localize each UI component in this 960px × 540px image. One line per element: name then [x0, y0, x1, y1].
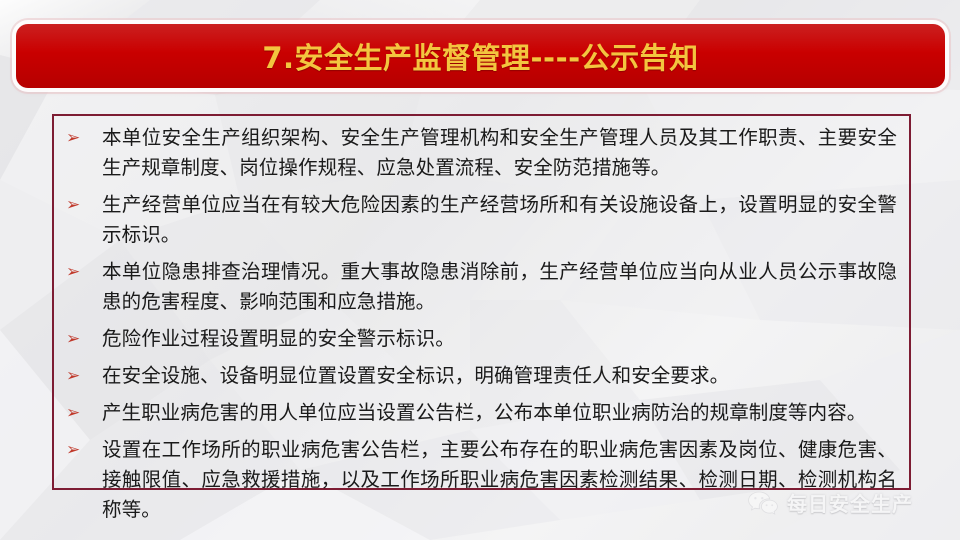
list-item: ➢ 本单位隐患排查治理情况。重大事故隐患消除前，生产经营单位应当向从业人员公示事…: [60, 257, 899, 317]
list-item-text: 生产经营单位应当在有较大危险因素的生产经营场所和有关设施设备上，设置明显的安全警…: [102, 190, 899, 250]
list-item-text: 产生职业病危害的用人单位应当设置公告栏，公布本单位职业病防治的规章制度等内容。: [102, 398, 899, 428]
bullet-list: ➢ 本单位安全生产组织架构、安全生产管理机构和安全生产管理人员及其工作职责、主要…: [60, 123, 899, 525]
arrow-bullet-icon: ➢: [60, 361, 102, 391]
slide-title-banner: 7.安全生产监督管理----公示告知: [16, 24, 945, 88]
list-item-text: 本单位隐患排查治理情况。重大事故隐患消除前，生产经营单位应当向从业人员公示事故隐…: [102, 257, 899, 317]
arrow-bullet-icon: ➢: [60, 257, 102, 287]
list-item: ➢ 危险作业过程设置明显的安全警示标识。: [60, 324, 899, 354]
list-item: ➢ 设置在工作场所的职业病危害公告栏，主要公布存在的职业病危害因素及岗位、健康危…: [60, 435, 899, 525]
content-box: ➢ 本单位安全生产组织架构、安全生产管理机构和安全生产管理人员及其工作职责、主要…: [52, 114, 911, 490]
arrow-bullet-icon: ➢: [60, 435, 102, 465]
arrow-bullet-icon: ➢: [60, 324, 102, 354]
page-title: 7.安全生产监督管理----公示告知: [262, 35, 698, 77]
list-item-text: 设置在工作场所的职业病危害公告栏，主要公布存在的职业病危害因素及岗位、健康危害、…: [102, 435, 899, 525]
arrow-bullet-icon: ➢: [60, 190, 102, 220]
list-item: ➢ 产生职业病危害的用人单位应当设置公告栏，公布本单位职业病防治的规章制度等内容…: [60, 398, 899, 428]
list-item-text: 在安全设施、设备明显位置设置安全标识，明确管理责任人和安全要求。: [102, 361, 899, 391]
arrow-bullet-icon: ➢: [60, 398, 102, 428]
list-item: ➢ 在安全设施、设备明显位置设置安全标识，明确管理责任人和安全要求。: [60, 361, 899, 391]
list-item-text: 本单位安全生产组织架构、安全生产管理机构和安全生产管理人员及其工作职责、主要安全…: [102, 123, 899, 183]
slide-canvas: 7.安全生产监督管理----公示告知 ➢ 本单位安全生产组织架构、安全生产管理机…: [0, 0, 960, 540]
arrow-bullet-icon: ➢: [60, 123, 102, 153]
list-item-text: 危险作业过程设置明显的安全警示标识。: [102, 324, 899, 354]
list-item: ➢ 本单位安全生产组织架构、安全生产管理机构和安全生产管理人员及其工作职责、主要…: [60, 123, 899, 183]
list-item: ➢ 生产经营单位应当在有较大危险因素的生产经营场所和有关设施设备上，设置明显的安…: [60, 190, 899, 250]
